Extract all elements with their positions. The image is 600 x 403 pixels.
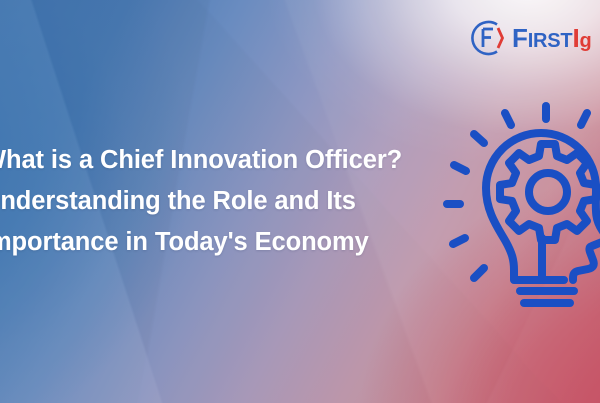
headline-line-2: Understanding the Role and Its: [0, 181, 462, 222]
firstigniter-logo[interactable]: FIRSTIg: [468, 18, 592, 58]
logo-word-second: Ig: [572, 25, 591, 51]
blog-hero-banner: What is a Chief Innovation Officer? Unde…: [0, 0, 600, 403]
logo-wordmark: FIRSTIg: [512, 25, 592, 51]
headline-line-1: What is a Chief Innovation Officer?: [0, 140, 462, 181]
logo-word-second-rest: g: [579, 30, 591, 52]
logo-word-first: FIRST: [512, 25, 572, 51]
circled-f-icon: [468, 18, 508, 58]
logo-word-first-rest: IRST: [528, 30, 573, 52]
page-title: What is a Chief Innovation Officer? Unde…: [0, 140, 462, 263]
logo-word-first-cap: F: [512, 23, 528, 53]
headline-line-3: Importance in Today's Economy: [0, 222, 462, 263]
